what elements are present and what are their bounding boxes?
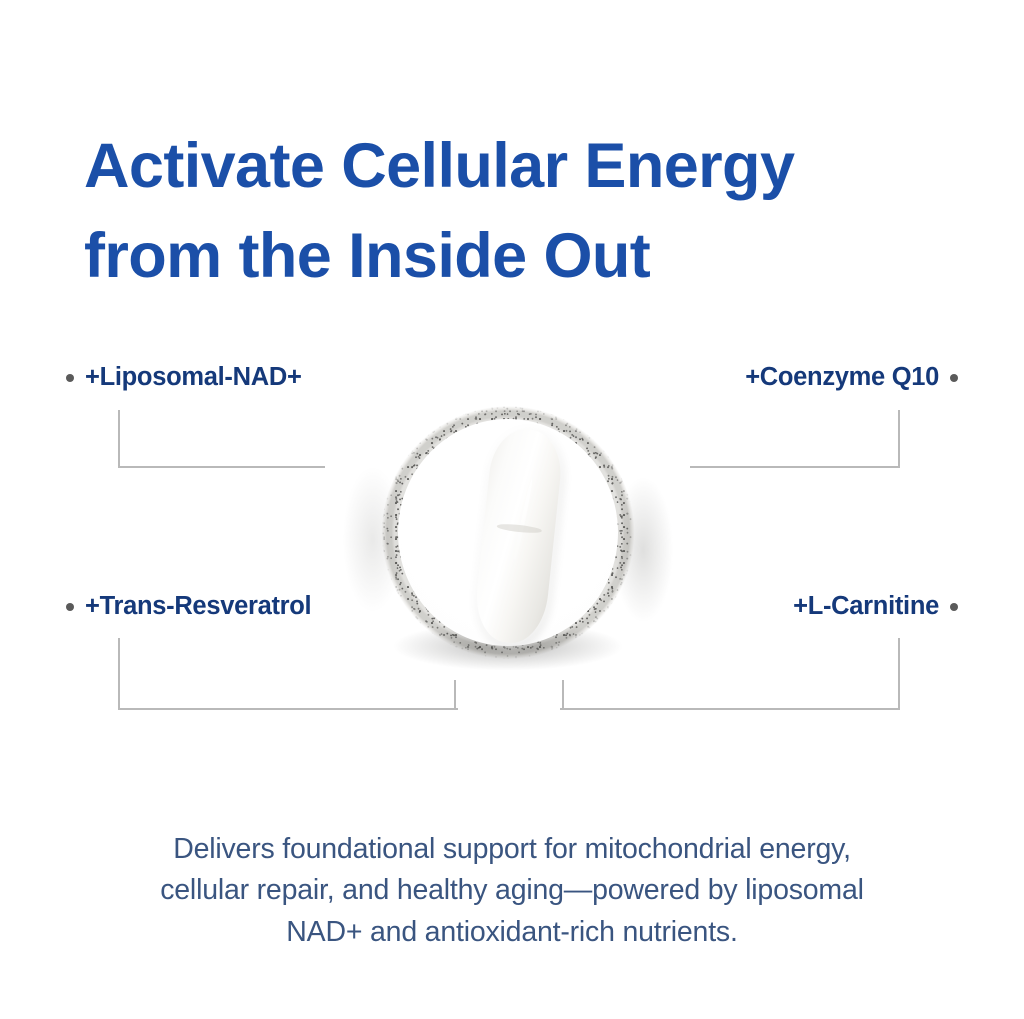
connector-line-trans-resveratrol [118,638,458,710]
ingredient-label-coenzyme-q10: +Coenzyme Q10 [745,363,958,392]
ingredient-label-text: +L-Carnitine [793,592,939,621]
connector-tick-l-carnitine [562,680,564,708]
ingredient-label-l-carnitine: +L-Carnitine [793,592,958,621]
page-title: Activate Cellular Energy from the Inside… [84,122,964,301]
ingredient-label-text: +Coenzyme Q10 [745,363,939,392]
bullet-icon [950,374,958,382]
ingredient-label-text: +Trans-Resveratrol [85,592,311,621]
bullet-icon [66,374,74,382]
ingredient-label-trans-resveratrol: +Trans-Resveratrol [66,592,311,621]
bullet-icon [950,603,958,611]
connector-line-liposomal-nad [118,410,325,468]
description-text: Delivers foundational support for mitoch… [0,829,1024,954]
ingredient-label-text: +Liposomal-NAD+ [85,363,302,392]
connector-tick-trans-resveratrol [454,680,456,708]
connector-line-l-carnitine [560,638,900,710]
bullet-icon [66,603,74,611]
capsule-highlight [510,479,534,572]
product-infographic: Activate Cellular Energy from the Inside… [0,0,1024,1019]
ingredient-label-liposomal-nad: +Liposomal-NAD+ [66,363,302,392]
connector-line-coenzyme-q10 [690,410,900,468]
